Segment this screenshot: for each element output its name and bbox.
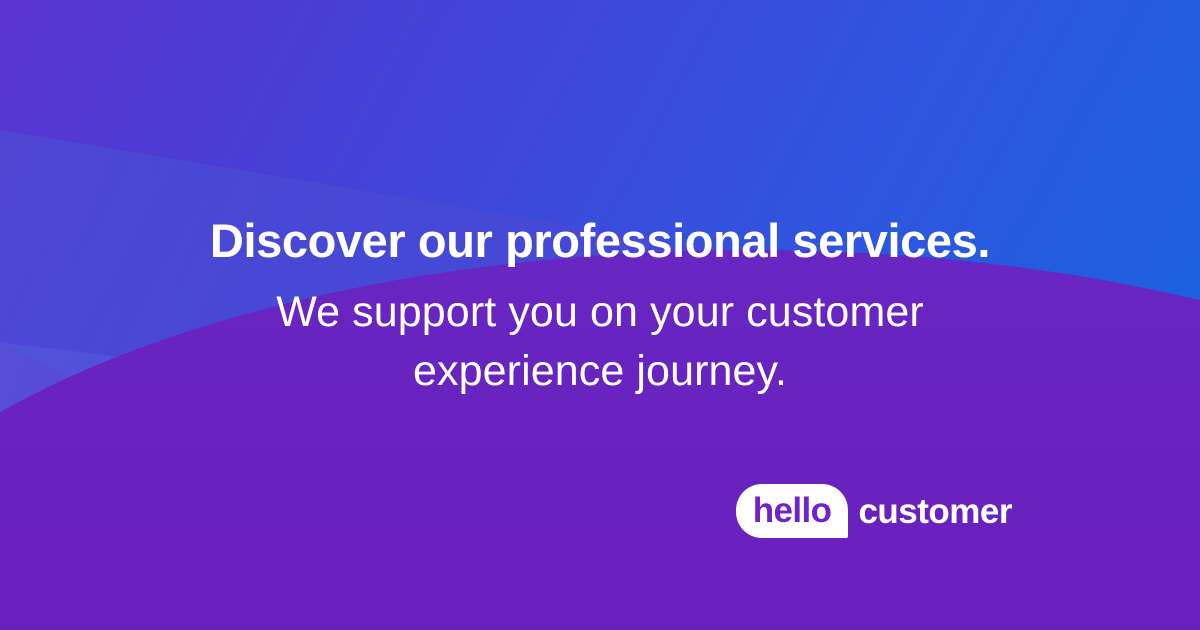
speech-bubble-icon: hello [736,484,849,538]
hero-subtitle: We support you on your customer experien… [70,283,1130,402]
logo-hello-text: hello [753,493,832,528]
hero-text-block: Discover our professional services. We s… [0,214,1200,401]
promo-card: Discover our professional services. We s… [0,0,1200,630]
hero-subtitle-line-1: We support you on your customer [70,283,1130,342]
card-content: Discover our professional services. We s… [0,0,1200,630]
brand-logo[interactable]: hello customer [736,484,1012,538]
logo-customer-text: customer [858,494,1012,529]
page-title: Discover our professional services. [70,214,1130,269]
hero-subtitle-line-2: experience journey. [70,342,1130,401]
